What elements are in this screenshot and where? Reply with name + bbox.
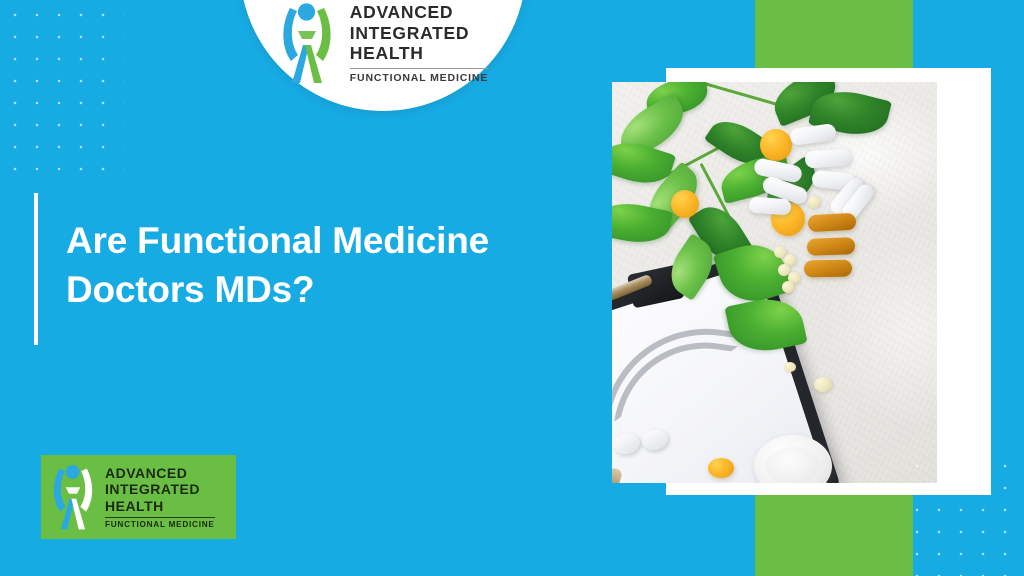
logo-bottom-line3: HEALTH: [105, 498, 215, 514]
cream-tablet: [808, 196, 820, 208]
stethoscope-tube: [614, 331, 738, 438]
white-capsule: [748, 197, 791, 216]
orange-tablet: [671, 190, 699, 218]
headline-accent-bar: [34, 193, 38, 345]
cream-tablet: [784, 362, 796, 372]
logo-bottom-wordmark: ADVANCED INTEGRATED HEALTH FUNCTIONAL ME…: [105, 465, 215, 529]
logo-bottom-tagline: FUNCTIONAL MEDICINE: [105, 520, 215, 529]
logo-top-tagline: FUNCTIONAL MEDICINE: [350, 72, 488, 84]
stethoscope-connector: [612, 467, 623, 483]
amber-capsule: [807, 237, 856, 256]
logo-top-wordmark: ADVANCED INTEGRATED HEALTH FUNCTIONAL ME…: [350, 2, 488, 83]
stethoscope-eartip: [612, 431, 642, 457]
human-figure-icon: [49, 463, 97, 531]
orange-tablet: [760, 129, 792, 161]
logo-top-line3: HEALTH: [350, 43, 488, 63]
amber-capsule: [804, 260, 852, 278]
stethoscope-eartip: [640, 428, 670, 453]
page-title: Are Functional Medicine Doctors MDs?: [66, 216, 596, 314]
orange-tablet: [708, 458, 734, 478]
logo-bottom-line2: INTEGRATED: [105, 481, 215, 497]
logo-bottom-line1: ADVANCED: [105, 465, 215, 481]
logo-bottom-divider: [105, 517, 215, 518]
human-figure-icon: [278, 1, 336, 85]
supplements-clipboard-photo: [612, 82, 937, 483]
cream-tablet: [814, 377, 832, 392]
amber-capsule: [808, 213, 857, 232]
slide-canvas: Are Functional Medicine Doctors MDs? ADV…: [0, 0, 1024, 576]
dot-pattern-top-left-icon: [0, 0, 124, 178]
logo-top-line2: INTEGRATED: [350, 23, 488, 43]
jar-lid-rim: [766, 447, 820, 483]
logo-top-line1: ADVANCED: [350, 2, 488, 22]
cream-tablet: [782, 281, 794, 293]
logo-top-badge[interactable]: ADVANCED INTEGRATED HEALTH FUNCTIONAL ME…: [240, 0, 526, 111]
logo-bottom-badge[interactable]: ADVANCED INTEGRATED HEALTH FUNCTIONAL ME…: [41, 455, 236, 539]
white-capsule: [804, 148, 851, 168]
logo-top-divider: [350, 68, 488, 69]
